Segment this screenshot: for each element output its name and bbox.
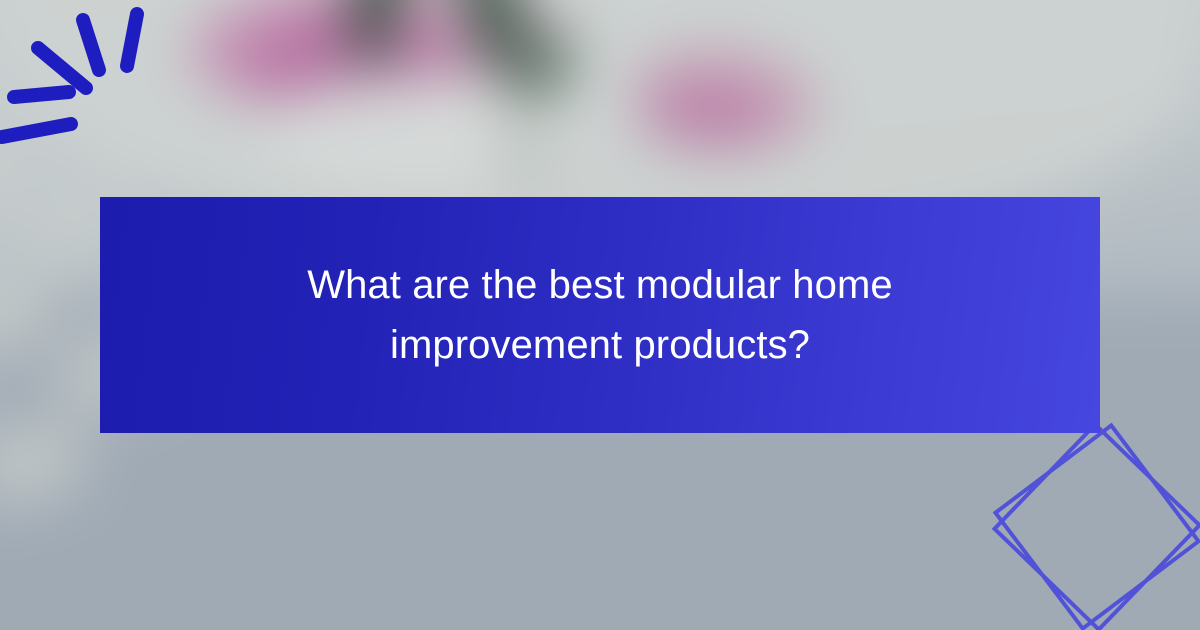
title-line-2: improvement products? (390, 323, 810, 367)
flower-blob (643, 83, 773, 148)
sparkle-stroke (14, 92, 69, 97)
social-card: What are the best modular homeimprovemen… (0, 0, 1200, 630)
title-line-1: What are the best modular home (307, 263, 893, 307)
sparkle-stroke (38, 48, 86, 88)
rotated-squares-icon (990, 420, 1200, 630)
sparkle-stroke (2, 124, 71, 137)
sparkle-stroke (127, 14, 137, 66)
rotated-square (995, 425, 1198, 628)
sparkle-stroke (83, 20, 99, 70)
rotated-square (994, 424, 1199, 629)
page-title: What are the best modular homeimprovemen… (307, 255, 893, 375)
question-banner: What are the best modular homeimprovemen… (100, 197, 1100, 433)
sparkle-burst-icon (0, 0, 180, 160)
highlight-blob (254, 72, 578, 191)
